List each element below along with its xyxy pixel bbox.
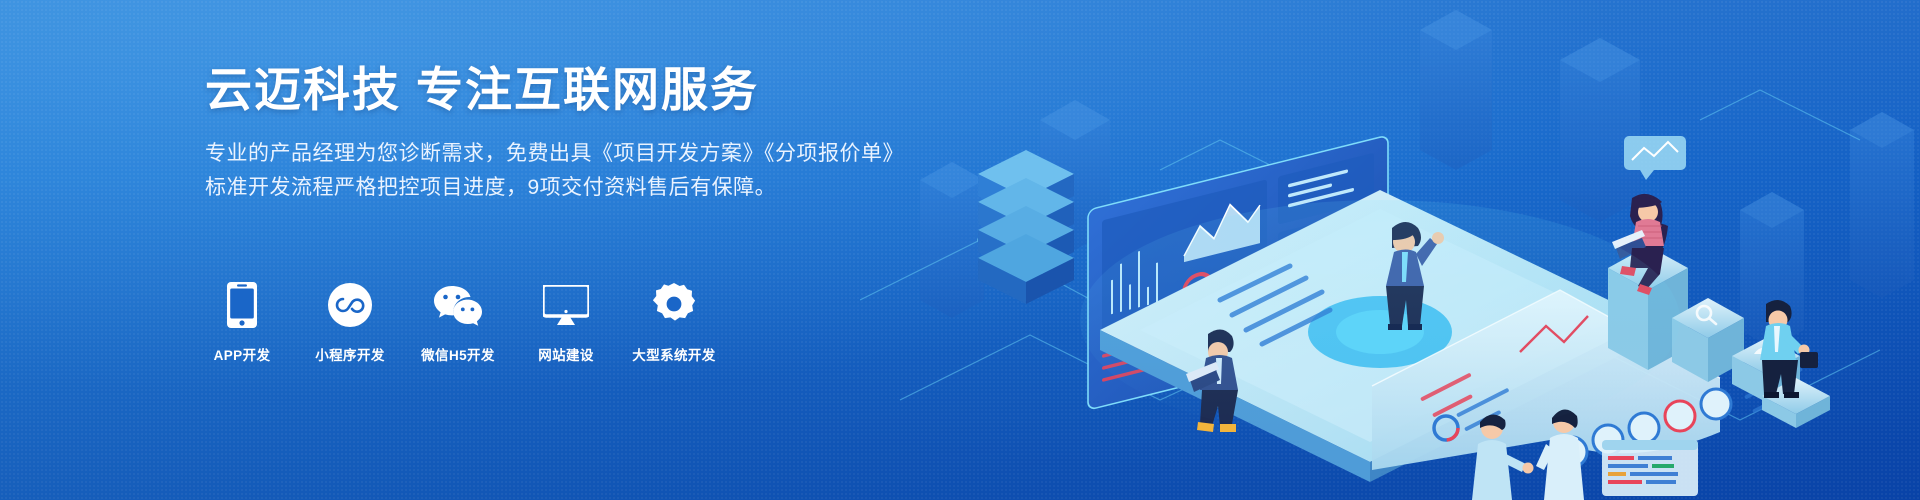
banner-title: 云迈科技 专注互联网服务 [205,62,965,117]
subtitle-line-1: 专业的产品经理为您诊断需求，免费出具《项目开发方案》《分项报价单》 [205,137,965,171]
service-label: 微信H5开发 [421,344,495,364]
service-list: APP开发 小程序开发 微信 [205,282,711,364]
service-label: 小程序开发 [315,344,385,364]
monitor-icon [543,282,589,328]
code-window-panel [1602,440,1698,496]
service-item-app[interactable]: APP开发 [205,282,279,364]
subtitle-line-2: 标准开发流程严格把控项目进度，9项交付资料售后有保障。 [205,171,965,205]
service-item-miniprogram[interactable]: 小程序开发 [313,282,387,364]
service-item-system[interactable]: 大型系统开发 [637,282,711,364]
isometric-illustration [860,0,1920,500]
service-item-website[interactable]: 网站建设 [529,282,603,364]
server-rack-stack [978,150,1074,304]
banner-subtitle: 专业的产品经理为您诊断需求，免费出具《项目开发方案》《分项报价单》 标准开发流程… [205,137,965,205]
person-climbing-steps [1760,300,1818,398]
service-label: 大型系统开发 [632,344,715,364]
mini-program-icon [328,282,372,328]
promo-banner: 云迈科技 专注互联网服务 专业的产品经理为您诊断需求，免费出具《项目开发方案》《… [0,0,1920,500]
service-item-wechat-h5[interactable]: 微信H5开发 [421,282,495,364]
service-label: APP开发 [214,344,271,364]
banner-copy: 云迈科技 专注互联网服务 专业的产品经理为您诊断需求，免费出具《项目开发方案》《… [205,62,965,205]
gear-icon [652,282,696,328]
wechat-icon [433,282,483,328]
mobile-phone-icon [227,282,257,328]
service-label: 网站建设 [538,344,594,364]
